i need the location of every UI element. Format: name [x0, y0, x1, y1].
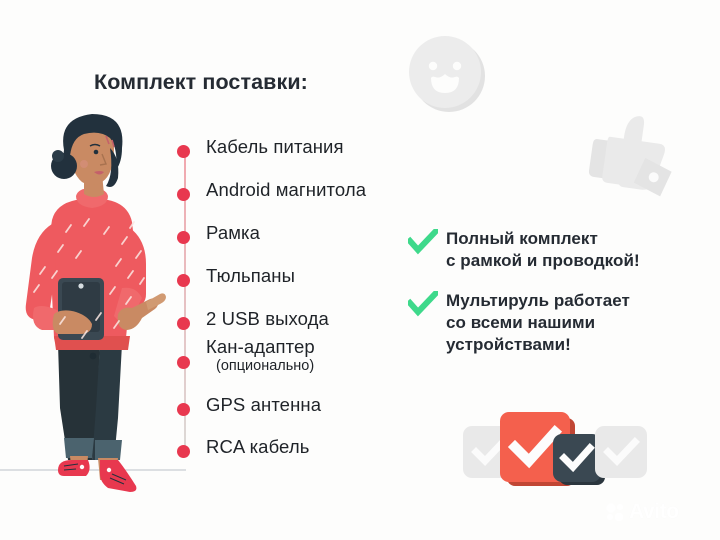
- list-item-label: Тюльпаны: [206, 265, 295, 287]
- checkbox-cards-decoration: [455, 404, 650, 496]
- bullet-dot-icon: [177, 403, 190, 416]
- benefit-line: с рамкой и проводкой!: [446, 250, 698, 272]
- check-icon: [595, 426, 647, 478]
- list-item-label: Android магнитола: [206, 179, 366, 201]
- list-item-label: GPS антенна: [206, 394, 321, 416]
- bullet-dot-icon: [177, 356, 190, 369]
- promo-banner: Комплект поставки: Кабель питания Androi…: [0, 0, 720, 540]
- thumbs-up-icon: [578, 104, 686, 200]
- list-item-label: Рамка: [206, 222, 260, 244]
- list-item-sublabel: (опционально): [216, 358, 314, 374]
- bullet-dot-icon: [177, 317, 190, 330]
- bullet-dot-icon: [177, 145, 190, 158]
- checkbox-card-gray-right: [595, 426, 647, 478]
- checkbox-card-dark: [553, 434, 601, 482]
- page-title: Комплект поставки:: [94, 70, 308, 95]
- bullet-dot-icon: [177, 231, 190, 244]
- list-item-label: Кабель питания: [206, 136, 344, 158]
- benefit-line: Мультируль работает: [446, 290, 698, 312]
- bullet-dot-icon: [177, 445, 190, 458]
- benefits-block: Полный комплект с рамкой и проводкой! Му…: [408, 228, 698, 370]
- woman-pointing-illustration: [0, 108, 186, 520]
- bullet-dot-icon: [177, 274, 190, 287]
- check-icon: [408, 291, 438, 317]
- benefit-item: Мультируль работает со всеми нашими устр…: [408, 290, 698, 356]
- list-item-label: Кан-адаптер: [206, 336, 315, 358]
- smiley-face-icon: [405, 32, 489, 116]
- list-item-label: RCA кабель: [206, 436, 309, 458]
- list-item-label: 2 USB выхода: [206, 308, 329, 330]
- avito-logo-icon: [605, 502, 625, 522]
- benefit-line: со всеми нашими: [446, 312, 698, 334]
- bullet-dot-icon: [177, 188, 190, 201]
- avito-brand-text: Avito: [629, 500, 679, 524]
- benefit-item: Полный комплект с рамкой и проводкой!: [408, 228, 698, 272]
- check-icon: [408, 229, 438, 255]
- check-icon: [553, 434, 601, 482]
- benefit-line: устройствами!: [446, 334, 698, 356]
- benefit-line: Полный комплект: [446, 228, 698, 250]
- avito-watermark: Avito: [605, 500, 679, 524]
- package-contents-list: Кабель питания Android магнитола Рамка Т…: [176, 128, 436, 458]
